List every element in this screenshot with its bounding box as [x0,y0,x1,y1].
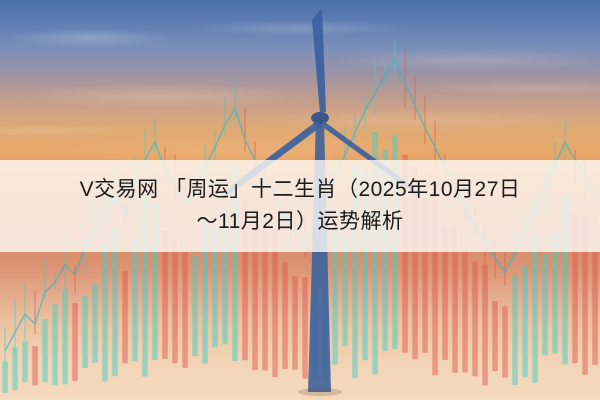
candle-body [492,301,498,371]
candle-body [122,271,128,364]
candle-body [92,284,98,363]
candle-body [302,277,308,379]
title-banner: V交易网 「周运」十二生肖（2025年10月27日 ～11月2日）运势解析 [0,160,600,252]
candle-body [172,239,178,363]
candle-body [282,263,288,369]
candle-body [62,289,68,385]
banner-line-1: V交易网 「周运」十二生肖（2025年10月27日 [80,175,521,205]
candle-body [22,341,28,382]
candle-body [52,304,58,385]
candle-body [482,265,488,386]
candle-body [472,261,478,376]
candle-body [552,234,558,353]
candle-body [542,254,548,356]
candle-body [292,276,298,370]
candle-body [182,252,188,368]
candle-body [312,256,318,378]
candle-body [42,319,48,382]
candle-body [462,248,468,373]
banner-line-2: ～11月2日）运势解析 [197,207,404,237]
candle-body [32,346,38,385]
candle-body [2,362,8,393]
candle-body [132,240,138,361]
candle-body [342,236,348,347]
candle-body [82,296,88,368]
candle-body [532,234,538,382]
candle-body [592,252,598,365]
candle-body [512,275,518,385]
screenshot-canvas: V交易网 「周运」十二生肖（2025年10月27日 ～11月2日）运势解析 [0,0,600,400]
candle-body [522,265,528,377]
candle-body [322,232,328,379]
candle-body [502,306,508,377]
candle-body [192,255,198,356]
candle-body [12,347,17,390]
candle-body [102,241,108,381]
candle-body [72,303,78,381]
